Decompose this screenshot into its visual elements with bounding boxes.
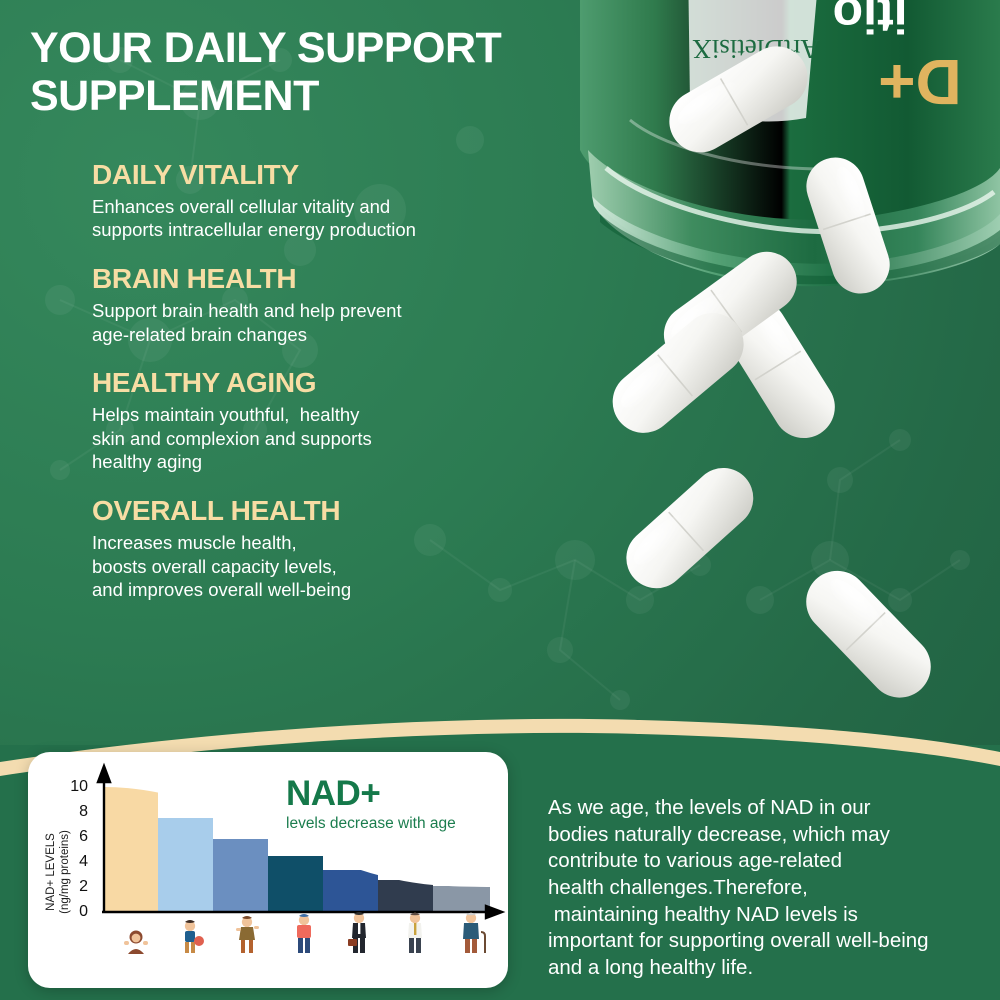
elderly-with-cane-figure-icon xyxy=(463,913,485,953)
benefit-title: BRAIN HEALTH xyxy=(92,264,512,295)
capsule xyxy=(614,456,766,601)
benefit-desc-line: Helps maintain youthful, healthy xyxy=(92,403,512,427)
businessman-figure-icon xyxy=(348,912,366,953)
young-adult-figure-icon xyxy=(297,914,311,953)
middle-aged-figure-icon xyxy=(408,913,422,953)
benefit-title: HEALTHY AGING xyxy=(92,368,512,399)
benefit-desc-line: supports intracellular energy production xyxy=(92,218,512,242)
y-tick-4: 4 xyxy=(79,853,88,870)
y-tick-6: 6 xyxy=(79,828,88,845)
teen-figure-icon xyxy=(236,916,259,953)
paragraph-line: bodies naturally decrease, which may xyxy=(548,822,1000,849)
benefit-desc-line: and improves overall well-being xyxy=(92,578,512,602)
y-tick-8: 8 xyxy=(79,803,88,820)
benefit-description: Increases muscle health, boosts overall … xyxy=(92,531,512,602)
benefit-item-overall-health: OVERALL HEALTH Increases muscle health, … xyxy=(92,496,512,602)
benefit-desc-line: age-related brain changes xyxy=(92,323,512,347)
benefit-desc-line: boosts overall capacity levels, xyxy=(92,555,512,579)
capsule xyxy=(793,558,943,710)
benefit-title: OVERALL HEALTH xyxy=(92,496,512,527)
y-axis-label-line2: (ng/mg proteins) xyxy=(59,830,71,914)
headline-line-2: SUPPLEMENT xyxy=(30,72,630,120)
benefit-desc-line: Increases muscle health, xyxy=(92,531,512,555)
benefit-desc-line: Enhances overall cellular vitality and xyxy=(92,195,512,219)
benefit-item-healthy-aging: HEALTHY AGING Helps maintain youthful, h… xyxy=(92,368,512,474)
paragraph-line: contribute to various age-related xyxy=(548,848,1000,875)
benefit-item-daily-vitality: DAILY VITALITY Enhances overall cellular… xyxy=(92,160,512,242)
nad-chart-subtitle: levels decrease with age xyxy=(286,815,501,833)
bottle-label-accent: D+ xyxy=(878,46,962,118)
benefit-description: Enhances overall cellular vitality and s… xyxy=(92,195,512,242)
paragraph-line: and a long healthy life. xyxy=(548,955,1000,982)
y-tick-0: 0 xyxy=(79,903,88,920)
nad-chart-card: NAD+ LEVELS (ng/mg proteins) 10 8 6 4 2 … xyxy=(28,752,508,988)
paragraph-line: maintaining healthy NAD levels is xyxy=(548,902,1000,929)
y-axis-label-line1: NAD+ LEVELS xyxy=(45,833,57,911)
benefit-desc-line: Support brain health and help prevent xyxy=(92,299,512,323)
y-tick-2: 2 xyxy=(79,878,88,895)
benefit-item-brain-health: BRAIN HEALTH Support brain health and he… xyxy=(92,264,512,346)
paragraph-line: health challenges.Therefore, xyxy=(548,875,1000,902)
age-figures-row xyxy=(124,912,485,954)
paragraph-line: As we age, the levels of NAD in our xyxy=(548,795,1000,822)
benefit-desc-line: skin and complexion and supports xyxy=(92,427,512,451)
benefit-desc-line: healthy aging xyxy=(92,450,512,474)
benefit-description: Helps maintain youthful, healthy skin an… xyxy=(92,403,512,474)
child-with-ball-figure-icon xyxy=(185,920,204,953)
benefits-list: DAILY VITALITY Enhances overall cellular… xyxy=(92,160,512,624)
paragraph-line: important for supporting overall well-be… xyxy=(548,928,1000,955)
nad-chart-title: NAD+ xyxy=(286,774,496,814)
explanatory-paragraph: As we age, the levels of NAD in our bodi… xyxy=(548,795,1000,981)
baby-figure-icon xyxy=(124,931,148,955)
bottle-label-text-fragment: itio xyxy=(833,0,908,43)
product-photo-bottle-and-capsules: ArtDietisiX D+ itio xyxy=(570,0,1000,760)
benefit-title: DAILY VITALITY xyxy=(92,160,512,191)
y-axis-ticks: 10 8 6 4 2 0 xyxy=(70,778,88,920)
supplement-bottle: ArtDietisiX D+ itio xyxy=(580,0,1000,286)
headline-line-1: YOUR DAILY SUPPORT xyxy=(30,24,630,72)
benefit-description: Support brain health and help prevent ag… xyxy=(92,299,512,346)
page-title: YOUR DAILY SUPPORT SUPPLEMENT xyxy=(30,24,630,120)
y-tick-10: 10 xyxy=(70,778,88,795)
